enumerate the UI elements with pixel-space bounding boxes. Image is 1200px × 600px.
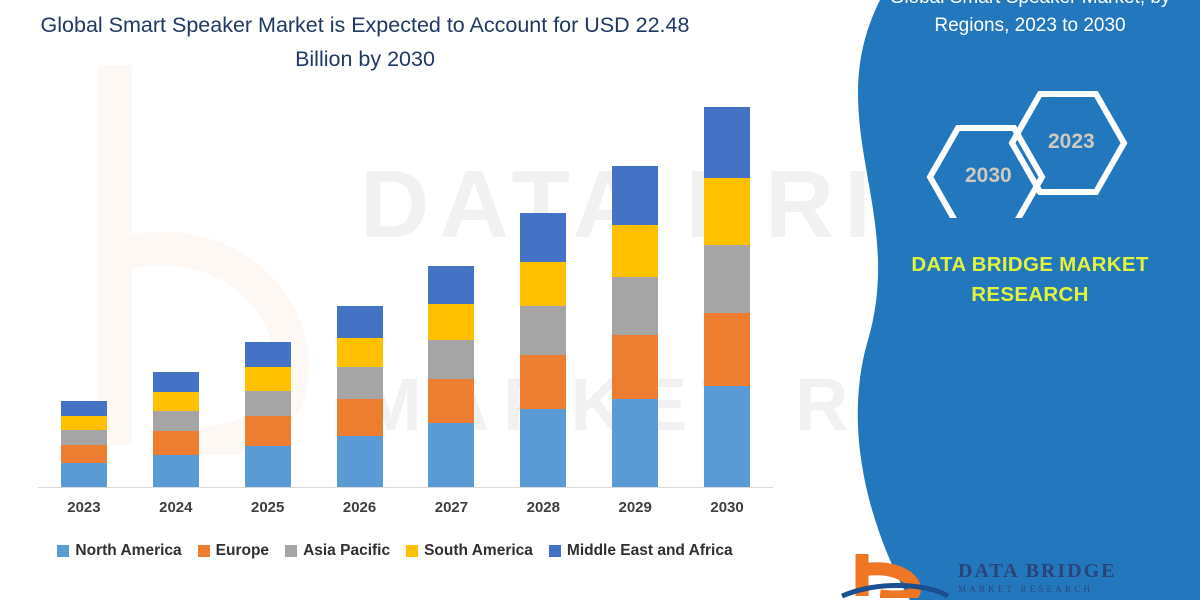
bar-segment[interactable] bbox=[153, 431, 199, 455]
bar-segment[interactable] bbox=[520, 213, 566, 262]
bar-segment[interactable] bbox=[520, 262, 566, 306]
bar-segment[interactable] bbox=[153, 392, 199, 411]
bar-segment[interactable] bbox=[153, 372, 199, 392]
bar-column bbox=[406, 60, 496, 487]
stacked-bar[interactable] bbox=[153, 372, 199, 487]
bar-segment[interactable] bbox=[704, 386, 750, 487]
legend-label: Asia Pacific bbox=[303, 542, 390, 560]
bar-segment[interactable] bbox=[61, 416, 107, 430]
bar-segment[interactable] bbox=[245, 391, 291, 416]
bar-chart-bars bbox=[38, 60, 773, 487]
bar-column bbox=[498, 60, 588, 487]
bar-segment[interactable] bbox=[337, 367, 383, 399]
bar-segment[interactable] bbox=[61, 445, 107, 464]
bar-segment[interactable] bbox=[428, 379, 474, 423]
legend-label: Europe bbox=[216, 542, 269, 560]
bar-segment[interactable] bbox=[245, 342, 291, 367]
legend-swatch-icon bbox=[406, 545, 418, 557]
bar-segment[interactable] bbox=[61, 463, 107, 487]
bar-column bbox=[590, 60, 680, 487]
legend-label: North America bbox=[75, 542, 181, 560]
x-axis-label: 2025 bbox=[223, 499, 313, 516]
bar-column bbox=[682, 60, 772, 487]
legend-swatch-icon bbox=[57, 545, 69, 557]
bar-segment[interactable] bbox=[520, 306, 566, 355]
bar-segment[interactable] bbox=[612, 399, 658, 487]
bar-segment[interactable] bbox=[612, 166, 658, 225]
bar-segment[interactable] bbox=[245, 367, 291, 391]
bar-column bbox=[315, 60, 405, 487]
legend-label: Middle East and Africa bbox=[567, 542, 733, 560]
x-axis-label: 2029 bbox=[590, 499, 680, 516]
stacked-bar[interactable] bbox=[61, 401, 107, 487]
bar-segment[interactable] bbox=[337, 306, 383, 338]
legend-swatch-icon bbox=[285, 545, 297, 557]
bar-segment[interactable] bbox=[612, 277, 658, 334]
x-axis-label: 2027 bbox=[406, 499, 496, 516]
bar-segment[interactable] bbox=[520, 355, 566, 409]
x-axis-labels: 20232024202520262027202820292030 bbox=[38, 492, 773, 522]
x-axis-label: 2024 bbox=[131, 499, 221, 516]
bar-column bbox=[39, 60, 129, 487]
bar-segment[interactable] bbox=[153, 455, 199, 487]
bar-segment[interactable] bbox=[428, 423, 474, 487]
bar-segment[interactable] bbox=[612, 225, 658, 277]
bar-segment[interactable] bbox=[520, 409, 566, 487]
x-axis-label: 2030 bbox=[682, 499, 772, 516]
legend-swatch-icon bbox=[198, 545, 210, 557]
bar-column bbox=[223, 60, 313, 487]
bar-segment[interactable] bbox=[61, 401, 107, 416]
bar-segment[interactable] bbox=[704, 107, 750, 178]
x-axis-label: 2023 bbox=[39, 499, 129, 516]
legend-item[interactable]: Europe bbox=[198, 542, 269, 560]
bar-segment[interactable] bbox=[337, 399, 383, 436]
stacked-bar[interactable] bbox=[520, 213, 566, 487]
legend-item[interactable]: North America bbox=[57, 542, 181, 560]
stacked-bar[interactable] bbox=[428, 266, 474, 487]
chart-legend: North AmericaEuropeAsia PacificSouth Ame… bbox=[0, 538, 790, 564]
stacked-bar[interactable] bbox=[337, 306, 383, 487]
page-title-line1: Global Smart Speaker Market is Expected … bbox=[41, 13, 690, 37]
bar-segment[interactable] bbox=[337, 338, 383, 367]
bar-column bbox=[131, 60, 221, 487]
bar-segment[interactable] bbox=[612, 335, 658, 399]
legend-item[interactable]: Middle East and Africa bbox=[549, 542, 733, 560]
x-axis-label: 2026 bbox=[315, 499, 405, 516]
blue-side-panel bbox=[760, 0, 1200, 600]
infographic-root: DATA BRIDGE MARKET RESEARCH Global Smart… bbox=[0, 0, 1200, 600]
bar-segment[interactable] bbox=[704, 245, 750, 313]
bar-segment[interactable] bbox=[428, 340, 474, 379]
bar-segment[interactable] bbox=[428, 304, 474, 339]
legend-item[interactable]: South America bbox=[406, 542, 533, 560]
stacked-bar[interactable] bbox=[704, 107, 750, 487]
bar-segment[interactable] bbox=[428, 266, 474, 305]
x-axis-line bbox=[38, 487, 773, 488]
bar-segment[interactable] bbox=[245, 416, 291, 446]
bar-segment[interactable] bbox=[245, 446, 291, 487]
bar-segment[interactable] bbox=[153, 411, 199, 431]
stacked-bar[interactable] bbox=[245, 342, 291, 487]
legend-item[interactable]: Asia Pacific bbox=[285, 542, 390, 560]
legend-swatch-icon bbox=[549, 545, 561, 557]
bar-segment[interactable] bbox=[704, 313, 750, 386]
x-axis-label: 2028 bbox=[498, 499, 588, 516]
legend-label: South America bbox=[424, 542, 533, 560]
bar-segment[interactable] bbox=[704, 178, 750, 246]
bar-segment[interactable] bbox=[337, 436, 383, 487]
bar-segment[interactable] bbox=[61, 430, 107, 445]
stacked-bar[interactable] bbox=[612, 166, 658, 487]
chart-area: DATA BRIDGE MARKET RESEARCH Global Smart… bbox=[0, 0, 880, 600]
